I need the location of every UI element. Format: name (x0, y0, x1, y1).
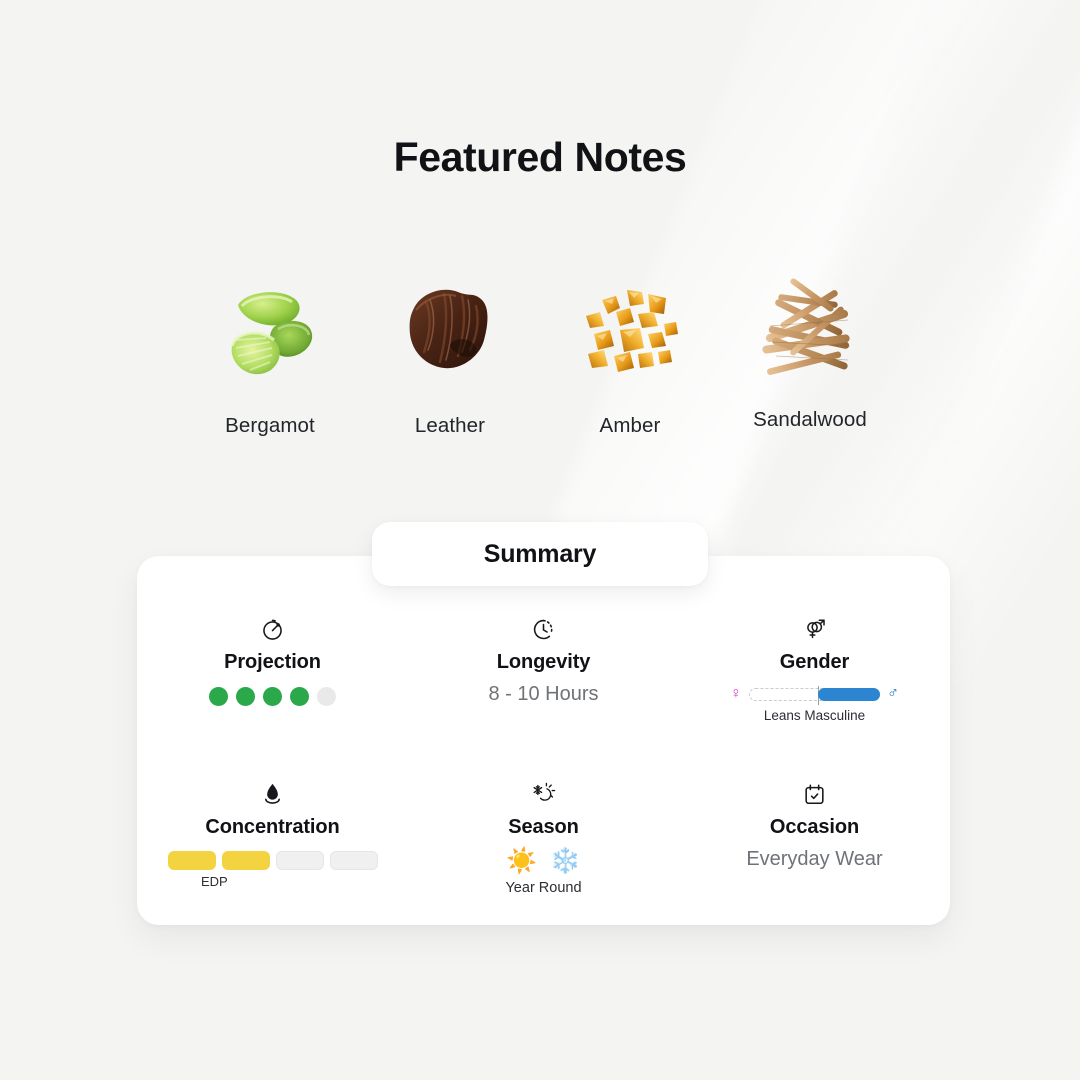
summary-pill-label: Summary (484, 540, 597, 569)
concentration-caption: EDP (201, 874, 228, 889)
summary-cell-occasion: Occasion Everyday Wear (679, 761, 950, 926)
cell-title: Concentration (205, 816, 339, 839)
cell-title: Longevity (497, 651, 591, 674)
summary-cell-concentration: Concentration EDP (137, 761, 408, 926)
amber-resin-chunks-image (572, 272, 688, 388)
note-label: Bergamot (225, 414, 315, 438)
concentration-segment (222, 851, 270, 870)
leather-hide-image (392, 272, 508, 388)
cell-title: Season (508, 816, 579, 839)
season-emojis: ☀️ ❄️ (506, 849, 580, 874)
note-item-leather[interactable]: Leather (360, 272, 540, 438)
cell-title: Gender (780, 651, 849, 674)
season-caption: Year Round (505, 880, 581, 896)
note-item-bergamot[interactable]: Bergamot (180, 272, 360, 438)
note-label: Leather (415, 414, 485, 438)
summary-pill: Summary (372, 522, 708, 586)
snowflake-emoji-icon: ❄️ (550, 849, 581, 874)
venus-mars-icon (802, 614, 828, 644)
sun-snow-icon (531, 779, 556, 809)
cell-value: 8 - 10 Hours (488, 683, 598, 706)
cell-value: Everyday Wear (746, 848, 882, 871)
summary-cell-longevity: Longevity 8 - 10 Hours (408, 596, 679, 761)
featured-notes-row: Bergamot (0, 272, 1080, 438)
projection-dot (263, 687, 282, 706)
gauge-icon (260, 614, 285, 644)
mars-symbol-icon: ♂ (887, 686, 899, 702)
sun-emoji-icon: ☀️ (506, 849, 537, 874)
summary-cell-projection: Projection (137, 596, 408, 761)
summary-cell-season: Season ☀️ ❄️ Year Round (408, 761, 679, 926)
lime-wedges-image (212, 272, 328, 388)
concentration-segment (276, 851, 324, 870)
gender-slider-fill (818, 688, 880, 701)
gender-slider[interactable]: ♀ ♂ (730, 686, 899, 702)
projection-dot (209, 687, 228, 706)
cell-title: Projection (224, 651, 321, 674)
projection-dot (236, 687, 255, 706)
summary-grid: Projection Longevity 8 - 10 Hours (137, 596, 950, 926)
droplet-icon (260, 779, 285, 809)
concentration-segment (168, 851, 216, 870)
venus-symbol-icon: ♀ (730, 686, 742, 702)
cell-title: Occasion (770, 816, 859, 839)
page-root: Featured Notes (0, 0, 1080, 1080)
projection-dot (290, 687, 309, 706)
gender-caption: Leans Masculine (764, 708, 865, 723)
page-title: Featured Notes (0, 134, 1080, 181)
note-item-sandalwood[interactable]: Sandalwood (720, 272, 900, 432)
clock-icon (531, 614, 556, 644)
note-label: Sandalwood (753, 408, 867, 432)
gender-slider-track[interactable] (749, 688, 880, 701)
sandalwood-sticks-image (752, 276, 868, 392)
projection-dot (317, 687, 336, 706)
note-item-amber[interactable]: Amber (540, 272, 720, 438)
projection-dots (209, 687, 336, 706)
calendar-check-icon (802, 779, 827, 809)
note-label: Amber (600, 414, 661, 438)
concentration-segment (330, 851, 378, 870)
summary-cell-gender: Gender ♀ ♂ Leans Masculine (679, 596, 950, 761)
concentration-segments (168, 851, 378, 870)
